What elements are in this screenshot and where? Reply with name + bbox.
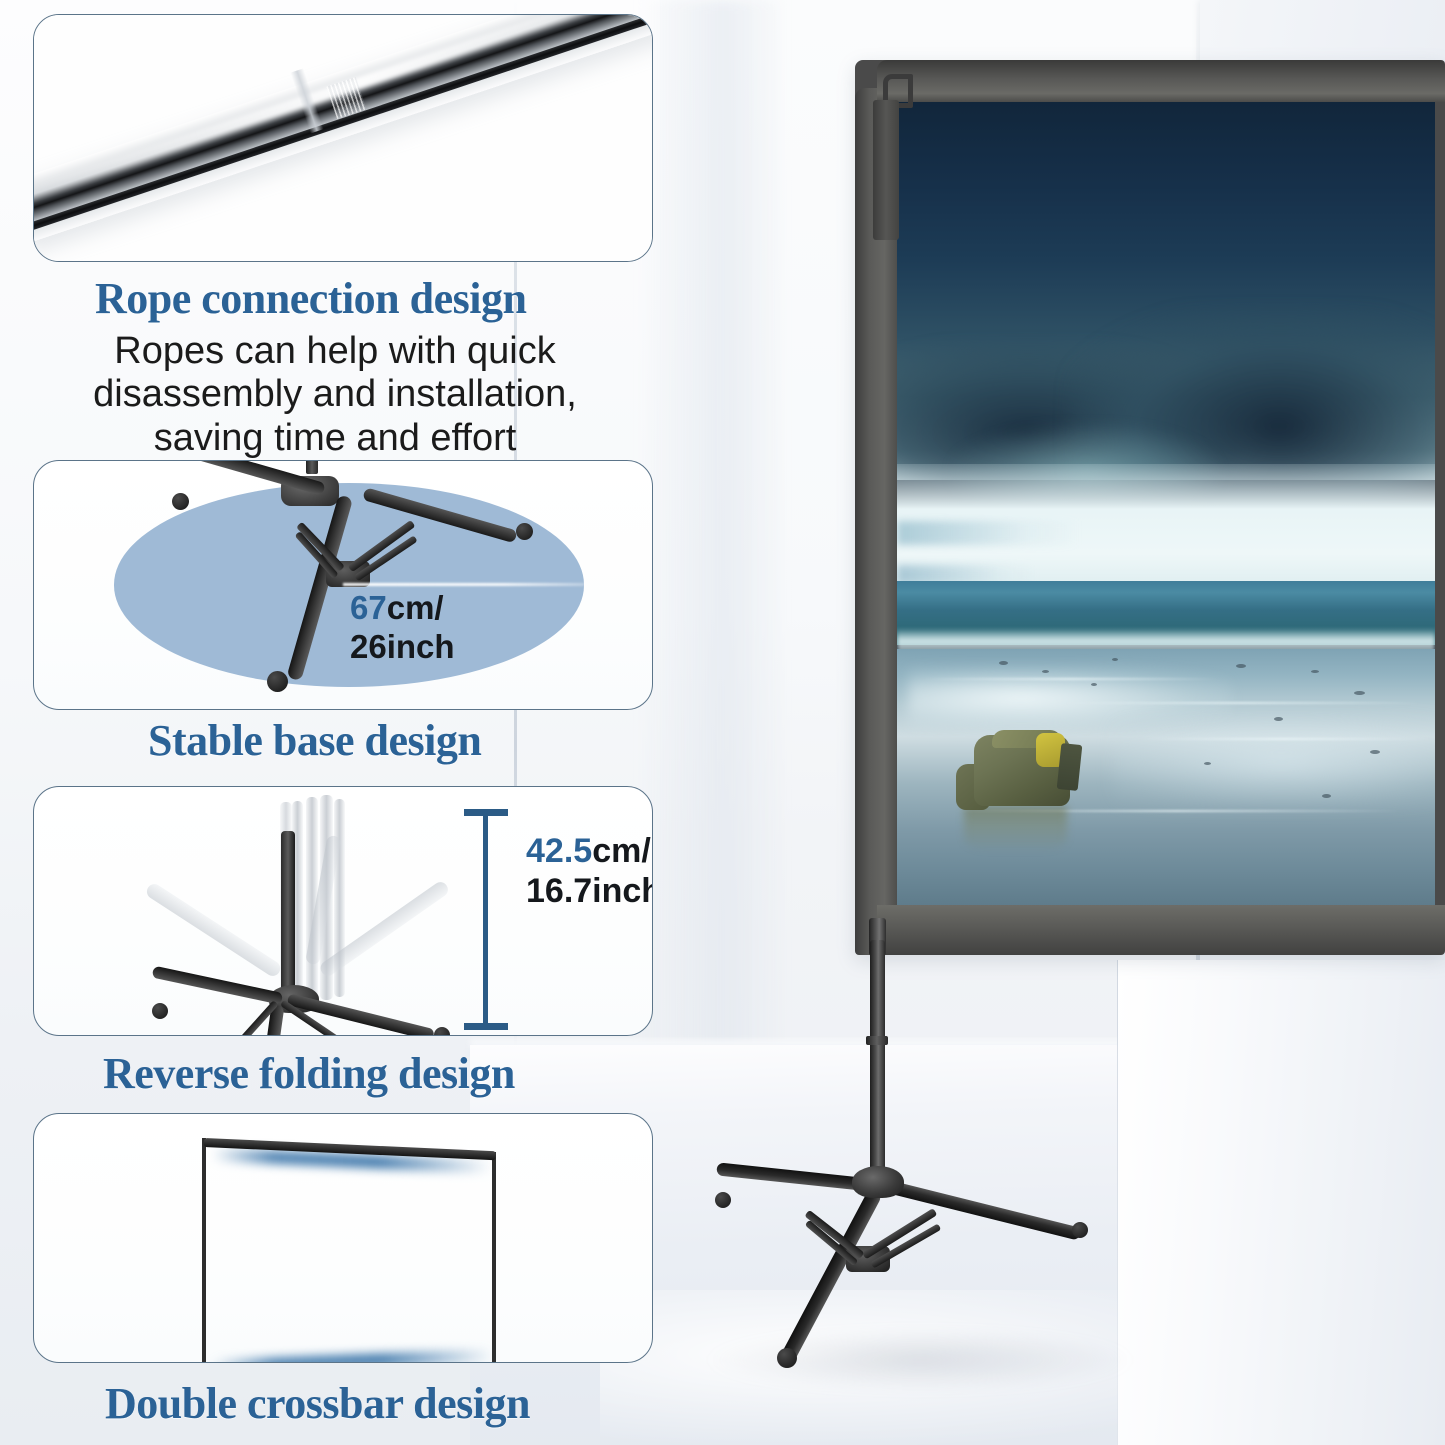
wall-shadow (640, 0, 780, 1060)
pebble (999, 661, 1008, 665)
wave-ripple (919, 678, 1220, 680)
feature-heading-double-crossbar: Double crossbar design (105, 1378, 530, 1429)
stand-floor-shadow (710, 1330, 1130, 1390)
base-foot-upper-right (516, 523, 533, 540)
feature-heading-stable-base: Stable base design (148, 715, 481, 766)
base-width-indicator-line (343, 583, 609, 586)
sand-reflection-right (1112, 714, 1435, 811)
bottom-crossbar-highlight (212, 1349, 494, 1363)
base-center-pole (306, 460, 318, 474)
infographic-canvas: Rope connection design Ropes can help wi… (0, 0, 1445, 1445)
feature-panel-double-crossbar (33, 1113, 653, 1363)
feature-heading-rope-connection: Rope connection design (95, 273, 526, 324)
tripod-hub (852, 1166, 904, 1198)
feature-body-line: disassembly and installation, (70, 373, 600, 416)
feature-panel-stable-base: 67cm/ 26inch (33, 460, 653, 710)
feature-panel-reverse-folding: 42.5cm/ 16.7inch (33, 786, 653, 1036)
backpack-reflection (964, 806, 1067, 852)
feature-body-line: Ropes can help with quick (70, 330, 600, 373)
wave-ripple (1058, 702, 1424, 704)
dimension-cap-bottom (464, 1023, 508, 1030)
folded-foot-right (434, 1027, 450, 1036)
folded-leg-right (287, 993, 435, 1036)
feature-body-rope-connection: Ropes can help with quick disassembly an… (70, 330, 600, 460)
haze-streak-upper (897, 521, 1080, 545)
frame-right-upright (492, 1152, 496, 1363)
frame-left-upright (202, 1138, 206, 1363)
feature-heading-reverse-folding: Reverse folding design (103, 1048, 515, 1099)
base-foot-upper-left (172, 493, 189, 510)
height-measurement-unit: cm/ (592, 832, 651, 870)
stand-pole-collar (866, 1036, 888, 1045)
backpack-strap (1057, 743, 1082, 791)
pebble (1311, 670, 1319, 673)
base-measurement-value: 67 (350, 589, 387, 626)
base-foot-front (267, 671, 288, 692)
tripod-foot-front (777, 1348, 797, 1368)
height-measurement-value: 42.5 (526, 832, 592, 870)
pedestal-front-face (1118, 960, 1445, 1445)
ghost-leg-left (144, 881, 283, 979)
height-measurement-cm: 42.5cm/ (526, 831, 653, 871)
folded-center-pole (281, 831, 295, 999)
chrome-pole-with-rope-photo (34, 15, 652, 261)
height-measurement-inch: 16.7inch (526, 871, 653, 911)
backpack-on-beach (956, 730, 1085, 819)
pebble (1204, 762, 1211, 765)
stand-center-pole (870, 940, 885, 1180)
tripod-foot-right (1072, 1222, 1088, 1238)
base-measurement-label: 67cm/ 26inch (350, 589, 455, 667)
base-measurement-unit: cm/ (387, 589, 444, 626)
screen-frame-bottom-rail (877, 905, 1445, 955)
base-measurement-cm: 67cm/ (350, 589, 455, 628)
base-arm-upper-left (178, 460, 326, 496)
feature-body-line: saving time and effort (70, 417, 600, 460)
height-measurement-label: 42.5cm/ 16.7inch (526, 831, 653, 911)
dimension-vertical-line (483, 809, 488, 1029)
folded-foot-left (152, 1003, 168, 1019)
wave-ripple (1134, 738, 1435, 740)
screen-projection-surface (897, 102, 1435, 907)
pebble (1274, 717, 1283, 721)
feature-panel-rope-connection (33, 14, 653, 262)
base-measurement-inch: 26inch (350, 628, 455, 667)
screen-corner-tab (873, 100, 899, 240)
pebble (1236, 664, 1246, 668)
projector-screen (855, 60, 1445, 960)
screen-frame-top-rail (877, 60, 1445, 102)
tripod-foot-left (715, 1192, 731, 1208)
